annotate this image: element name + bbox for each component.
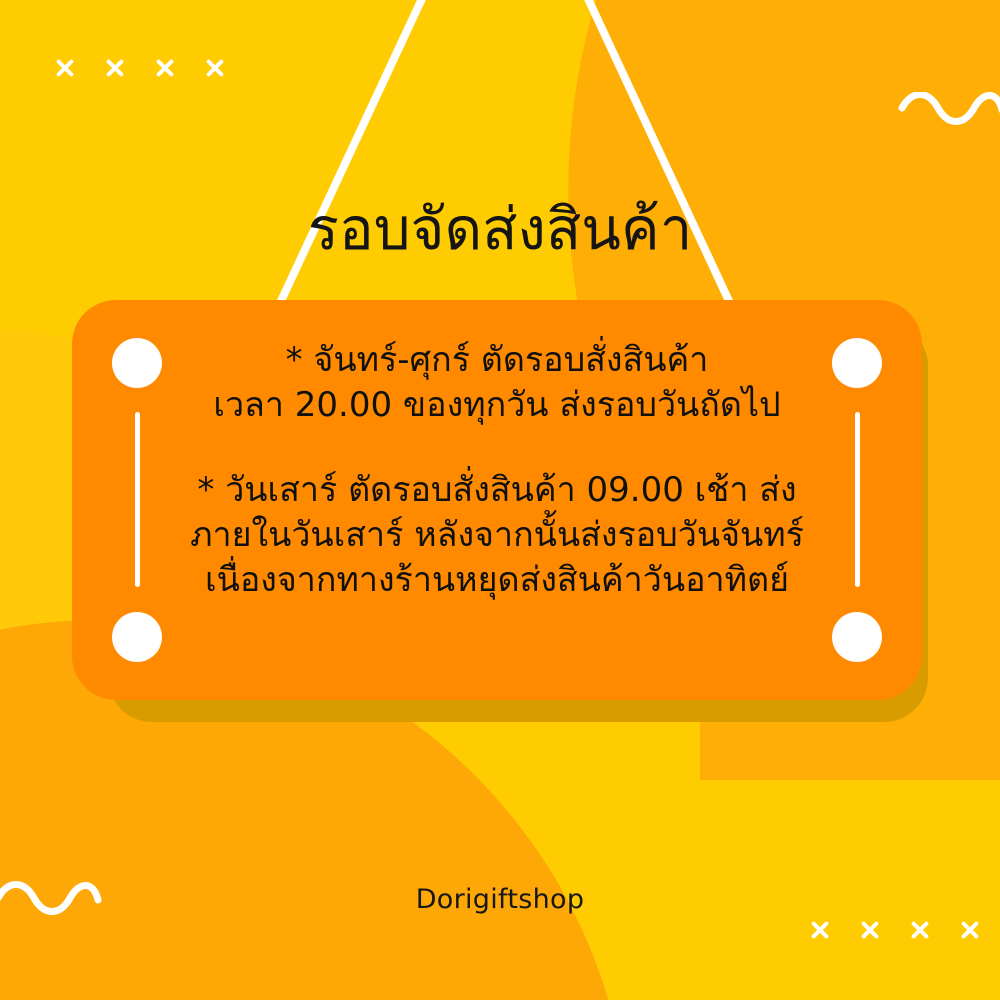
cross-marks-top-left	[55, 58, 225, 78]
blob-bottom-left-fill	[0, 690, 300, 1000]
paragraph-saturday-line-2: ภายในวันเสาร์ หลังจากนั้นส่งรอบวันจันทร์	[132, 513, 862, 558]
paragraph-saturday: * วันเสาร์ ตัดรอบสั่งสินค้า 09.00 เช้า ส…	[132, 468, 862, 603]
cross-mark-icon	[960, 920, 980, 940]
paragraph-weekday-line-1: * จันทร์-ศุกร์ ตัดรอบสั่งสินค้า	[132, 338, 862, 383]
cross-marks-bottom-right	[810, 920, 980, 940]
cross-mark-icon	[55, 58, 75, 78]
cross-mark-icon	[155, 58, 175, 78]
cross-mark-icon	[910, 920, 930, 940]
screw-hole-bottom-right-icon	[832, 612, 882, 662]
sign-card: * จันทร์-ศุกร์ ตัดรอบสั่งสินค้า เวลา 20.…	[72, 300, 922, 700]
paragraph-saturday-line-3: เนื่องจากทางร้านหยุดส่งสินค้าวันอาทิตย์	[132, 558, 862, 603]
paragraph-weekday: * จันทร์-ศุกร์ ตัดรอบสั่งสินค้า เวลา 20.…	[132, 338, 862, 428]
brand-name: Dorigiftshop	[0, 884, 1000, 915]
cross-mark-icon	[105, 58, 125, 78]
poster-canvas: รอบจัดส่งสินค้า * จันทร์-ศุกร์ ตัดรอบสั่…	[0, 0, 1000, 1000]
cross-mark-icon	[205, 58, 225, 78]
cross-mark-icon	[810, 920, 830, 940]
paragraph-saturday-line-1: * วันเสาร์ ตัดรอบสั่งสินค้า 09.00 เช้า ส…	[132, 468, 862, 513]
squiggle-top-right-icon	[898, 92, 1000, 140]
page-title: รอบจัดส่งสินค้า	[0, 196, 1000, 263]
squiggle-bottom-left-icon	[0, 872, 102, 920]
card-text-body: * จันทร์-ศุกร์ ตัดรอบสั่งสินค้า เวลา 20.…	[132, 338, 862, 602]
screw-hole-bottom-left-icon	[112, 612, 162, 662]
cross-mark-icon	[860, 920, 880, 940]
paragraph-weekday-line-2: เวลา 20.00 ของทุกวัน ส่งรอบวันถัดไป	[132, 383, 862, 428]
